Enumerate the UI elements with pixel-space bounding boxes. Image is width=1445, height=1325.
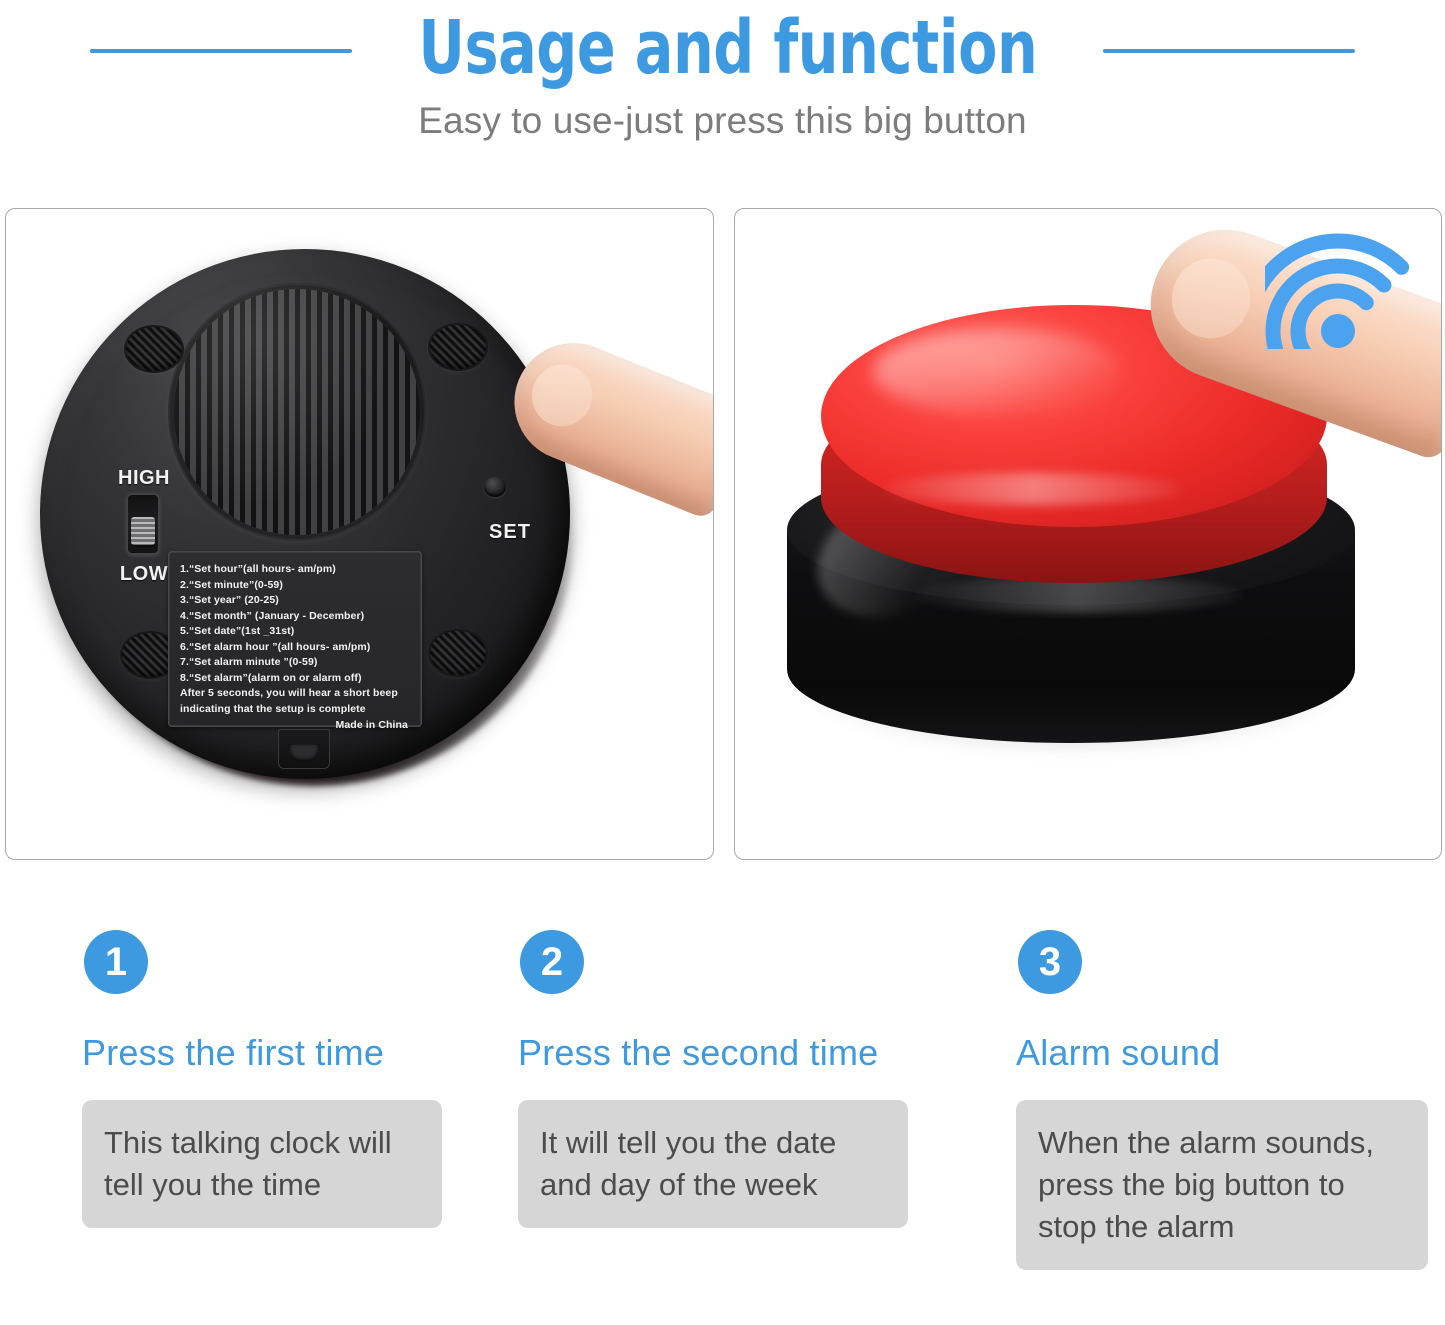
instruction-line: 3.“Set year” (20-25)	[180, 593, 412, 609]
red-button-highlight	[873, 329, 1123, 415]
step-number-badge: 1	[84, 930, 148, 994]
rubber-foot-icon	[428, 323, 488, 371]
step-description-box: When the alarm sounds, press the big but…	[1016, 1100, 1428, 1270]
title-row: Usage and function	[0, 0, 1445, 96]
instruction-line: 7.“Set alarm minute ”(0-59)	[180, 655, 412, 671]
step-number-badge: 2	[520, 930, 584, 994]
switch-label-high: HIGH	[96, 467, 192, 490]
photo-panel-underside: HIGH LOW SET 1.“Set hour”(all hours- am/…	[5, 208, 714, 860]
battery-compartment-latch	[278, 729, 330, 769]
latch-tab	[290, 745, 318, 761]
instruction-line: 8.“Set alarm”(alarm on or alarm off)	[180, 671, 412, 687]
volume-slider-knob[interactable]	[131, 517, 155, 545]
title-rule-left	[90, 49, 352, 53]
step-item: 2 Press the second time It will tell you…	[518, 930, 948, 1228]
volume-slider-switch[interactable]	[126, 493, 160, 555]
instruction-line: 5.“Set date”(1st _31st)	[180, 624, 412, 640]
instruction-line: 4.“Set month” (January - December)	[180, 609, 412, 625]
step-item: 1 Press the first time This talking cloc…	[82, 930, 512, 1228]
step-description-box: It will tell you the date and day of the…	[518, 1100, 908, 1228]
instruction-line: 2.“Set minute”(0-59)	[180, 578, 412, 594]
talking-clock-underside-image: HIGH LOW SET 1.“Set hour”(all hours- am/…	[26, 241, 596, 803]
device-body: HIGH LOW SET 1.“Set hour”(all hours- am/…	[40, 249, 570, 779]
instruction-label-plate: 1.“Set hour”(all hours- am/pm) 2.“Set mi…	[168, 551, 422, 727]
rubber-foot-icon	[124, 325, 184, 373]
page-subtitle: Easy to use-just press this big button	[0, 100, 1445, 142]
sound-wave-signal-icon	[1265, 221, 1411, 349]
instruction-line: After 5 seconds, you will hear a short b…	[180, 686, 412, 702]
photo-panel-big-button	[734, 208, 1442, 860]
instruction-line: 1.“Set hour”(all hours- am/pm)	[180, 562, 412, 578]
step-heading: Press the second time	[518, 1032, 948, 1074]
set-button[interactable]	[484, 477, 506, 497]
step-heading: Press the first time	[82, 1032, 512, 1074]
rubber-foot-icon	[428, 629, 488, 677]
step-description-box: This talking clock will tell you the tim…	[82, 1100, 442, 1228]
title-rule-right	[1103, 49, 1355, 53]
steps-section: 1 Press the first time This talking cloc…	[0, 930, 1445, 1325]
instruction-line: indicating that the setup is complete	[180, 702, 412, 718]
step-heading: Alarm sound	[1016, 1032, 1445, 1074]
instruction-line: 6.“Set alarm hour ”(all hours- am/pm)	[180, 640, 412, 656]
set-button-label: SET	[464, 521, 556, 544]
page-title: Usage and function	[418, 11, 1037, 85]
page-header: Usage and function Easy to use-just pres…	[0, 0, 1445, 196]
speaker-grille-highlight	[168, 283, 426, 541]
big-red-button-image	[763, 287, 1403, 797]
step-item: 3 Alarm sound When the alarm sounds, pre…	[1016, 930, 1445, 1270]
speaker-grille	[168, 283, 426, 541]
red-button-highlight-2	[883, 473, 1183, 505]
step-number-badge: 3	[1018, 930, 1082, 994]
